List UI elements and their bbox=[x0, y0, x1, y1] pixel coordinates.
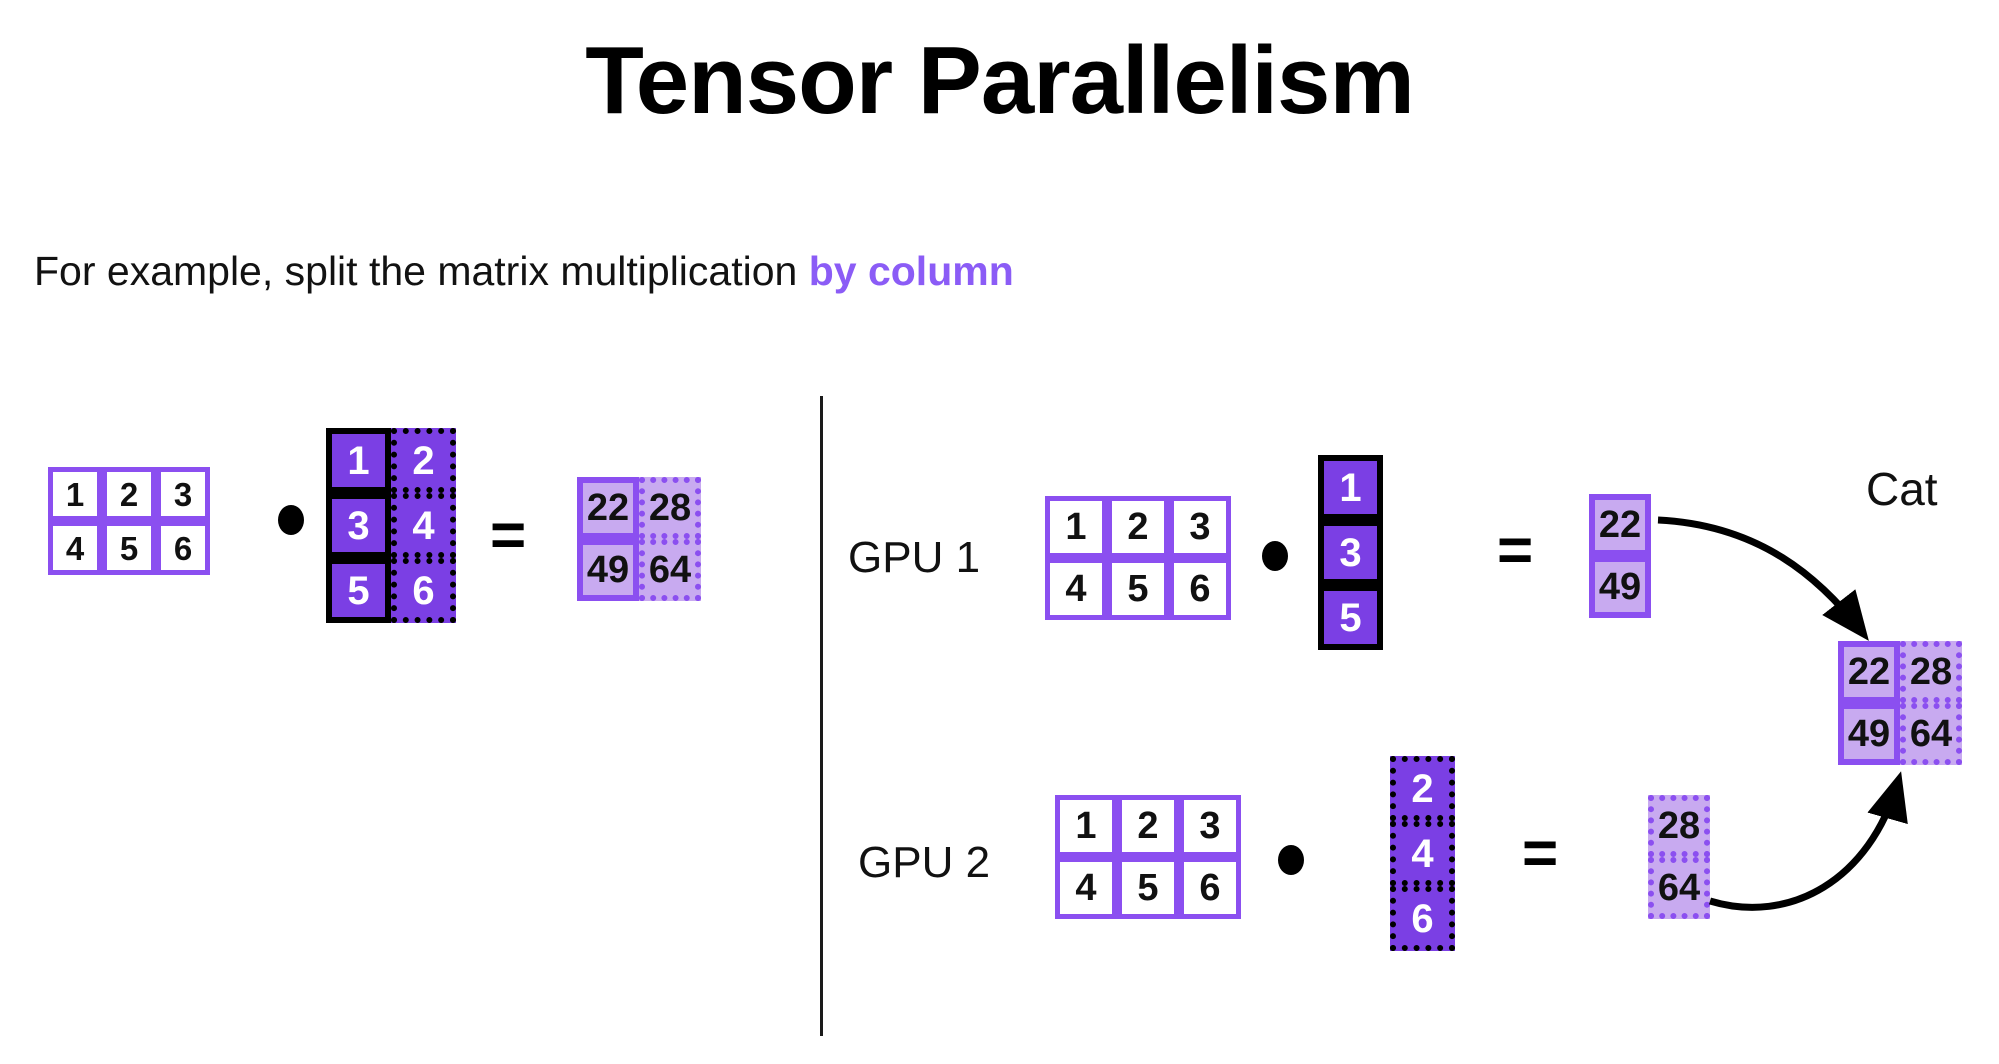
matrix-cell: 3 bbox=[1318, 520, 1383, 585]
matrix-cell: 49 bbox=[577, 539, 639, 601]
gpu2-matrix-a: 123456 bbox=[1055, 795, 1241, 919]
matrix-cell: 64 bbox=[639, 539, 701, 601]
matrix-cell: 5 bbox=[1107, 558, 1169, 620]
matrix-cell: 22 bbox=[1589, 494, 1651, 556]
matrix-cell: 49 bbox=[1838, 703, 1900, 765]
matrix-cell: 5 bbox=[326, 558, 391, 623]
arrow-gpu2-to-concat bbox=[1710, 782, 1898, 907]
matrix-cell: 2 bbox=[102, 467, 156, 521]
gpu2-result: 2864 bbox=[1648, 795, 1710, 919]
matrix-cell: 5 bbox=[1318, 585, 1383, 650]
matrix-cell: 1 bbox=[1318, 455, 1383, 520]
subtitle: For example, split the matrix multiplica… bbox=[34, 248, 1014, 295]
left-matrix-b: 123456 bbox=[326, 428, 456, 623]
matrix-cell: 28 bbox=[1900, 641, 1962, 703]
matrix-cell: 1 bbox=[1055, 795, 1117, 857]
matrix-cell: 5 bbox=[1117, 857, 1179, 919]
matrix-cell: 6 bbox=[1179, 857, 1241, 919]
matrix-cell: 1 bbox=[48, 467, 102, 521]
matrix-cell: 28 bbox=[1648, 795, 1710, 857]
gpu2-label: GPU 2 bbox=[858, 838, 990, 888]
concat-matrix: 22284964 bbox=[1838, 641, 1962, 765]
dot-operator-gpu2 bbox=[1278, 845, 1304, 875]
matrix-cell: 2 bbox=[1390, 756, 1455, 821]
matrix-cell: 64 bbox=[1648, 857, 1710, 919]
left-matrix-result: 22284964 bbox=[577, 477, 701, 601]
matrix-cell: 5 bbox=[102, 521, 156, 575]
matrix-cell: 6 bbox=[1390, 886, 1455, 951]
matrix-cell: 64 bbox=[1900, 703, 1962, 765]
gpu1-result: 2249 bbox=[1589, 494, 1651, 618]
matrix-cell: 2 bbox=[1107, 496, 1169, 558]
equals-operator-left: = bbox=[490, 505, 526, 567]
equals-operator-gpu1: = bbox=[1497, 520, 1533, 582]
dot-operator-left bbox=[278, 505, 304, 535]
matrix-cell: 2 bbox=[1117, 795, 1179, 857]
cat-label: Cat bbox=[1866, 462, 1938, 516]
matrix-cell: 4 bbox=[1390, 821, 1455, 886]
matrix-cell: 4 bbox=[1055, 857, 1117, 919]
subtitle-prefix: For example, split the matrix multiplica… bbox=[34, 248, 809, 294]
matrix-cell: 3 bbox=[1179, 795, 1241, 857]
gpu1-vector-b: 135 bbox=[1318, 455, 1383, 650]
matrix-cell: 22 bbox=[577, 477, 639, 539]
gpu2-vector-b: 246 bbox=[1390, 756, 1455, 951]
matrix-cell: 4 bbox=[391, 493, 456, 558]
matrix-cell: 1 bbox=[326, 428, 391, 493]
matrix-cell: 3 bbox=[1169, 496, 1231, 558]
matrix-cell: 6 bbox=[1169, 558, 1231, 620]
matrix-cell: 1 bbox=[1045, 496, 1107, 558]
matrix-cell: 3 bbox=[156, 467, 210, 521]
equals-operator-gpu2: = bbox=[1522, 823, 1558, 885]
matrix-cell: 4 bbox=[1045, 558, 1107, 620]
gpu1-label: GPU 1 bbox=[848, 533, 980, 583]
matrix-cell: 22 bbox=[1838, 641, 1900, 703]
matrix-cell: 2 bbox=[391, 428, 456, 493]
vertical-divider bbox=[820, 396, 823, 1036]
matrix-cell: 3 bbox=[326, 493, 391, 558]
matrix-cell: 28 bbox=[639, 477, 701, 539]
matrix-cell: 4 bbox=[48, 521, 102, 575]
arrow-gpu1-to-concat bbox=[1658, 520, 1862, 632]
subtitle-highlight: by column bbox=[809, 248, 1014, 294]
page-title: Tensor Parallelism bbox=[0, 28, 1999, 134]
gpu1-matrix-a: 123456 bbox=[1045, 496, 1231, 620]
left-matrix-a: 123456 bbox=[48, 467, 210, 575]
matrix-cell: 6 bbox=[156, 521, 210, 575]
dot-operator-gpu1 bbox=[1262, 541, 1288, 571]
matrix-cell: 6 bbox=[391, 558, 456, 623]
matrix-cell: 49 bbox=[1589, 556, 1651, 618]
